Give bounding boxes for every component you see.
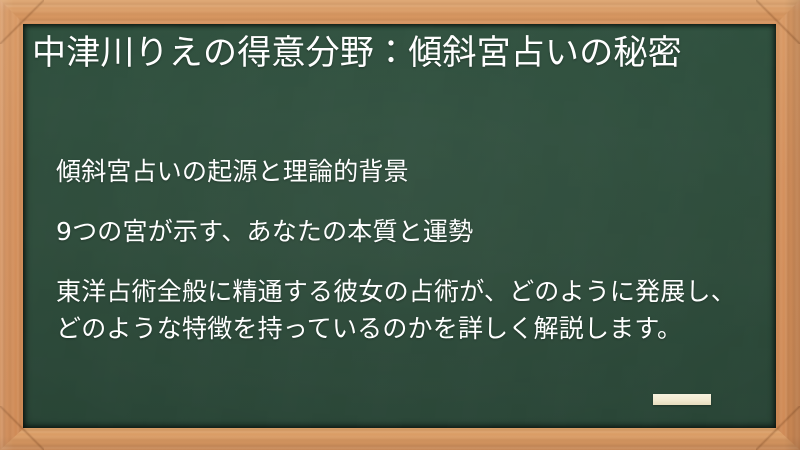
body-line-3: 東洋占術全般に精通する彼女の占術が、どのように発展し、どのような特徴を持っている… (56, 273, 756, 347)
frame-rail-top (0, 0, 800, 24)
body-line-2: 9つの宮が示す、あなたの本質と運勢 (56, 213, 756, 250)
chalk-eraser-icon (653, 394, 711, 405)
slide-canvas: 中津川りえの得意分野：傾斜宮占いの秘密 傾斜宮占いの起源と理論的背景 9つの宮が… (0, 0, 800, 450)
chalkboard-surface: 中津川りえの得意分野：傾斜宮占いの秘密 傾斜宮占いの起源と理論的背景 9つの宮が… (23, 24, 776, 428)
slide-title: 中津川りえの得意分野：傾斜宮占いの秘密 (32, 29, 756, 77)
frame-rail-bottom (0, 428, 800, 450)
body-line-1: 傾斜宮占いの起源と理論的背景 (56, 153, 756, 190)
slide-body: 傾斜宮占いの起源と理論的背景 9つの宮が示す、あなたの本質と運勢 東洋占術全般に… (56, 153, 756, 347)
board-content: 中津川りえの得意分野：傾斜宮占いの秘密 傾斜宮占いの起源と理論的背景 9つの宮が… (23, 24, 776, 428)
